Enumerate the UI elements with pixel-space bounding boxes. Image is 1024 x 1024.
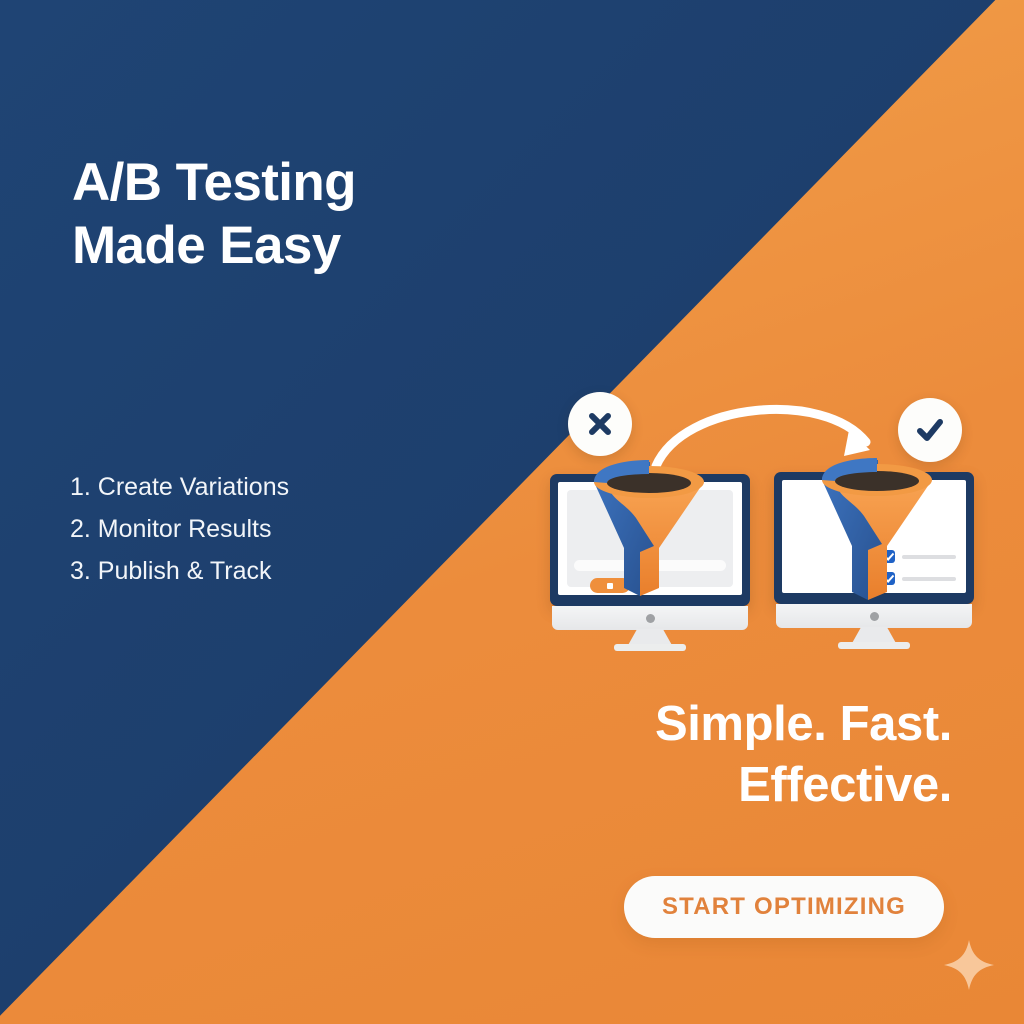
start-optimizing-button[interactable]: START OPTIMIZING [624,876,944,938]
monitor-camera-dot [646,614,655,623]
list-item [882,550,956,563]
monitor-camera-dot [870,612,879,621]
placeholder-line [902,577,956,581]
list-item: 1. Create Variations [70,466,490,508]
variant-a-monitor [550,474,750,646]
tagline: Simple. Fast. Effective. [392,694,952,817]
results-checklist [882,550,956,593]
sparkle-icon [942,938,996,992]
monitor-foot [614,644,686,651]
monitor-bezel [550,474,750,606]
monitor-bezel [774,472,974,604]
screen-input-bar [574,560,726,571]
monitor-foot [838,642,910,649]
monitor-chin [552,606,748,630]
list-item: 3. Publish & Track [70,550,490,592]
monitor-screen [558,482,742,595]
checkbox-checked-icon [882,550,895,563]
headline-line-2: Made Easy [72,215,502,278]
checkbox-checked-icon [882,572,895,585]
x-icon [583,407,617,441]
monitor-chin [776,604,972,628]
ab-test-illustration [536,378,996,668]
headline-line-1: A/B Testing [72,152,502,215]
cta-pill-icon [590,578,630,593]
page-title: A/B Testing Made Easy [72,152,502,277]
tagline-line-1: Simple. Fast. [392,694,952,755]
promo-poster: A/B Testing Made Easy 1. Create Variatio… [0,0,1024,1024]
curved-arrow-icon [644,384,894,474]
list-item: 2. Monitor Results [70,508,490,550]
badge-pass [898,398,962,462]
tagline-line-2: Effective. [392,755,952,816]
steps-list: 1. Create Variations 2. Monitor Results … [70,466,490,592]
variant-b-monitor [774,472,974,644]
badge-fail [568,392,632,456]
check-icon [912,412,948,448]
screen-content-card [567,490,733,587]
list-item [882,572,956,585]
placeholder-line [902,555,956,559]
monitor-screen [782,480,966,593]
